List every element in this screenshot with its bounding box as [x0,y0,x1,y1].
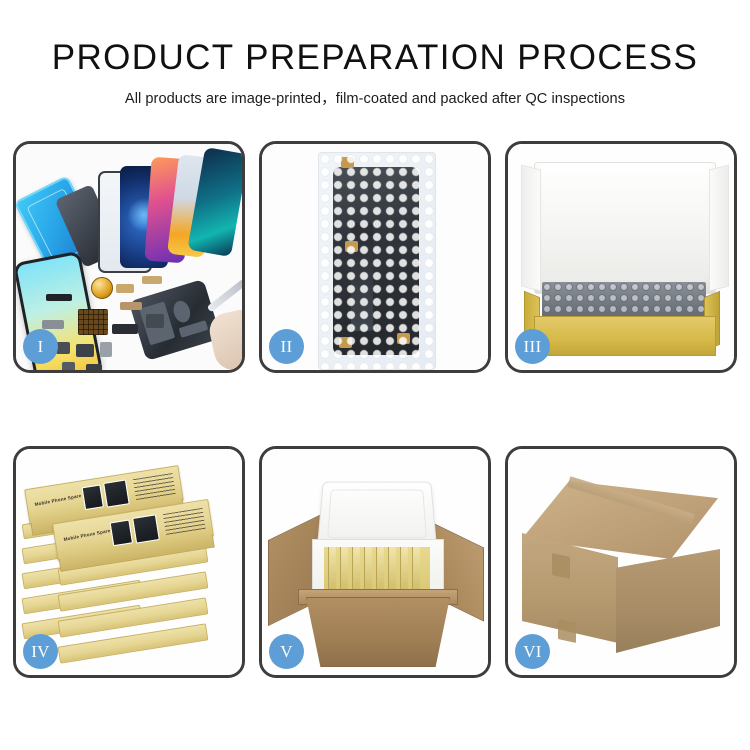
process-step-3[interactable]: III [505,141,737,373]
step-badge-1: I [23,329,58,364]
part-icon-m [86,364,102,370]
carton-right-face [616,549,720,653]
process-step-1[interactable]: I [13,141,245,373]
process-step-2[interactable]: II [259,141,491,373]
part-icon-k [146,314,164,328]
white-box-lid-icon [534,162,716,294]
page-subtitle: All products are image-printed，film-coat… [0,78,750,108]
box-window-front-1 [110,519,134,546]
process-step-6[interactable]: VI [505,446,737,678]
carton-tab-1 [552,553,570,579]
screen-assembly-icon [333,167,419,355]
part-icon-e [76,344,94,357]
page-header: PRODUCT PREPARATION PROCESS All products… [0,0,750,108]
box-spec-lines-front [163,508,206,536]
speaker-module-icon [91,277,113,299]
process-step-4[interactable]: Mobile Phone Spare Parts Mobile Phone Sp… [13,446,245,678]
part-icon-l [62,362,75,370]
connector-icon-2 [345,241,358,252]
flex-cable-icon-g [116,284,134,293]
carton-tab-2 [558,619,576,643]
flex-cable-icon-h [120,302,142,310]
bubble-wrap-bag-icon [318,152,436,370]
step-badge-3: III [515,329,550,364]
connector-icon-3 [339,337,352,348]
process-step-5[interactable]: V [259,446,491,678]
flex-strip-icon [351,223,373,331]
box-window-front-2 [132,514,160,543]
flex-cable-icon-j [142,276,162,284]
step-badge-6: VI [515,634,550,669]
part-icon-f [100,342,112,357]
step-badge-2: II [269,329,304,364]
phone-back-housing-icon [129,279,222,361]
box-window-rear-1 [82,484,104,510]
part-icon-i [112,324,138,334]
foam-lid-icon [317,482,437,548]
process-steps-grid: I II III [13,141,737,678]
part-icon-a [46,294,72,301]
step-badge-4: IV [23,634,58,669]
page-title: PRODUCT PREPARATION PROCESS [0,0,750,78]
connector-icon-1 [341,157,354,168]
screwdriver-icon [207,279,242,313]
step-badge-5: V [269,634,304,669]
kraft-box-front [534,316,716,356]
packed-yellow-boxes-icon [324,547,430,595]
part-icon-b [42,320,64,329]
box-spec-lines-rear [133,473,176,501]
connector-icon-4 [397,333,410,344]
chip-grid-icon [78,309,108,335]
carton-front [306,597,450,667]
box-window-rear-2 [103,479,130,507]
part-icon-d [56,342,70,354]
